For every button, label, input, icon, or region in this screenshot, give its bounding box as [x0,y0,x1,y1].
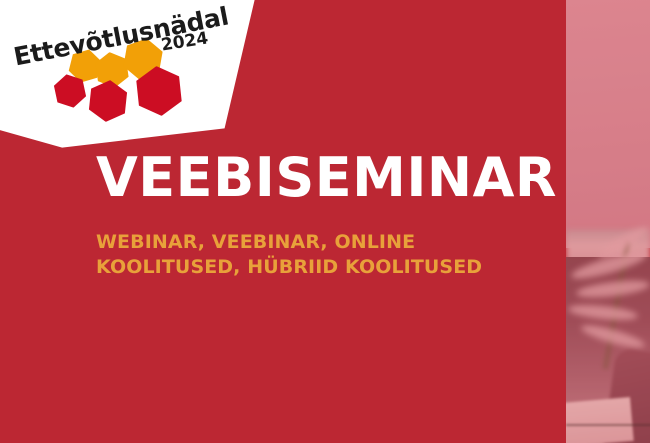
promo-banner: Ettevõtlusnädal 2024 VEEBISEMINAR WEBINA… [0,0,650,443]
hexagon-red-2 [85,78,131,124]
headline-block: VEEBISEMINAR WEBINAR, VEEBINAR, ONLINE K… [96,150,566,280]
interior-photo [566,0,650,443]
logo-badge: Ettevõtlusnädal 2024 [0,0,256,154]
page-subtitle: WEBINAR, VEEBINAR, ONLINE KOOLITUSED, HÜ… [96,230,566,280]
page-title: VEEBISEMINAR [96,150,566,206]
photo-red-tint [566,0,650,443]
